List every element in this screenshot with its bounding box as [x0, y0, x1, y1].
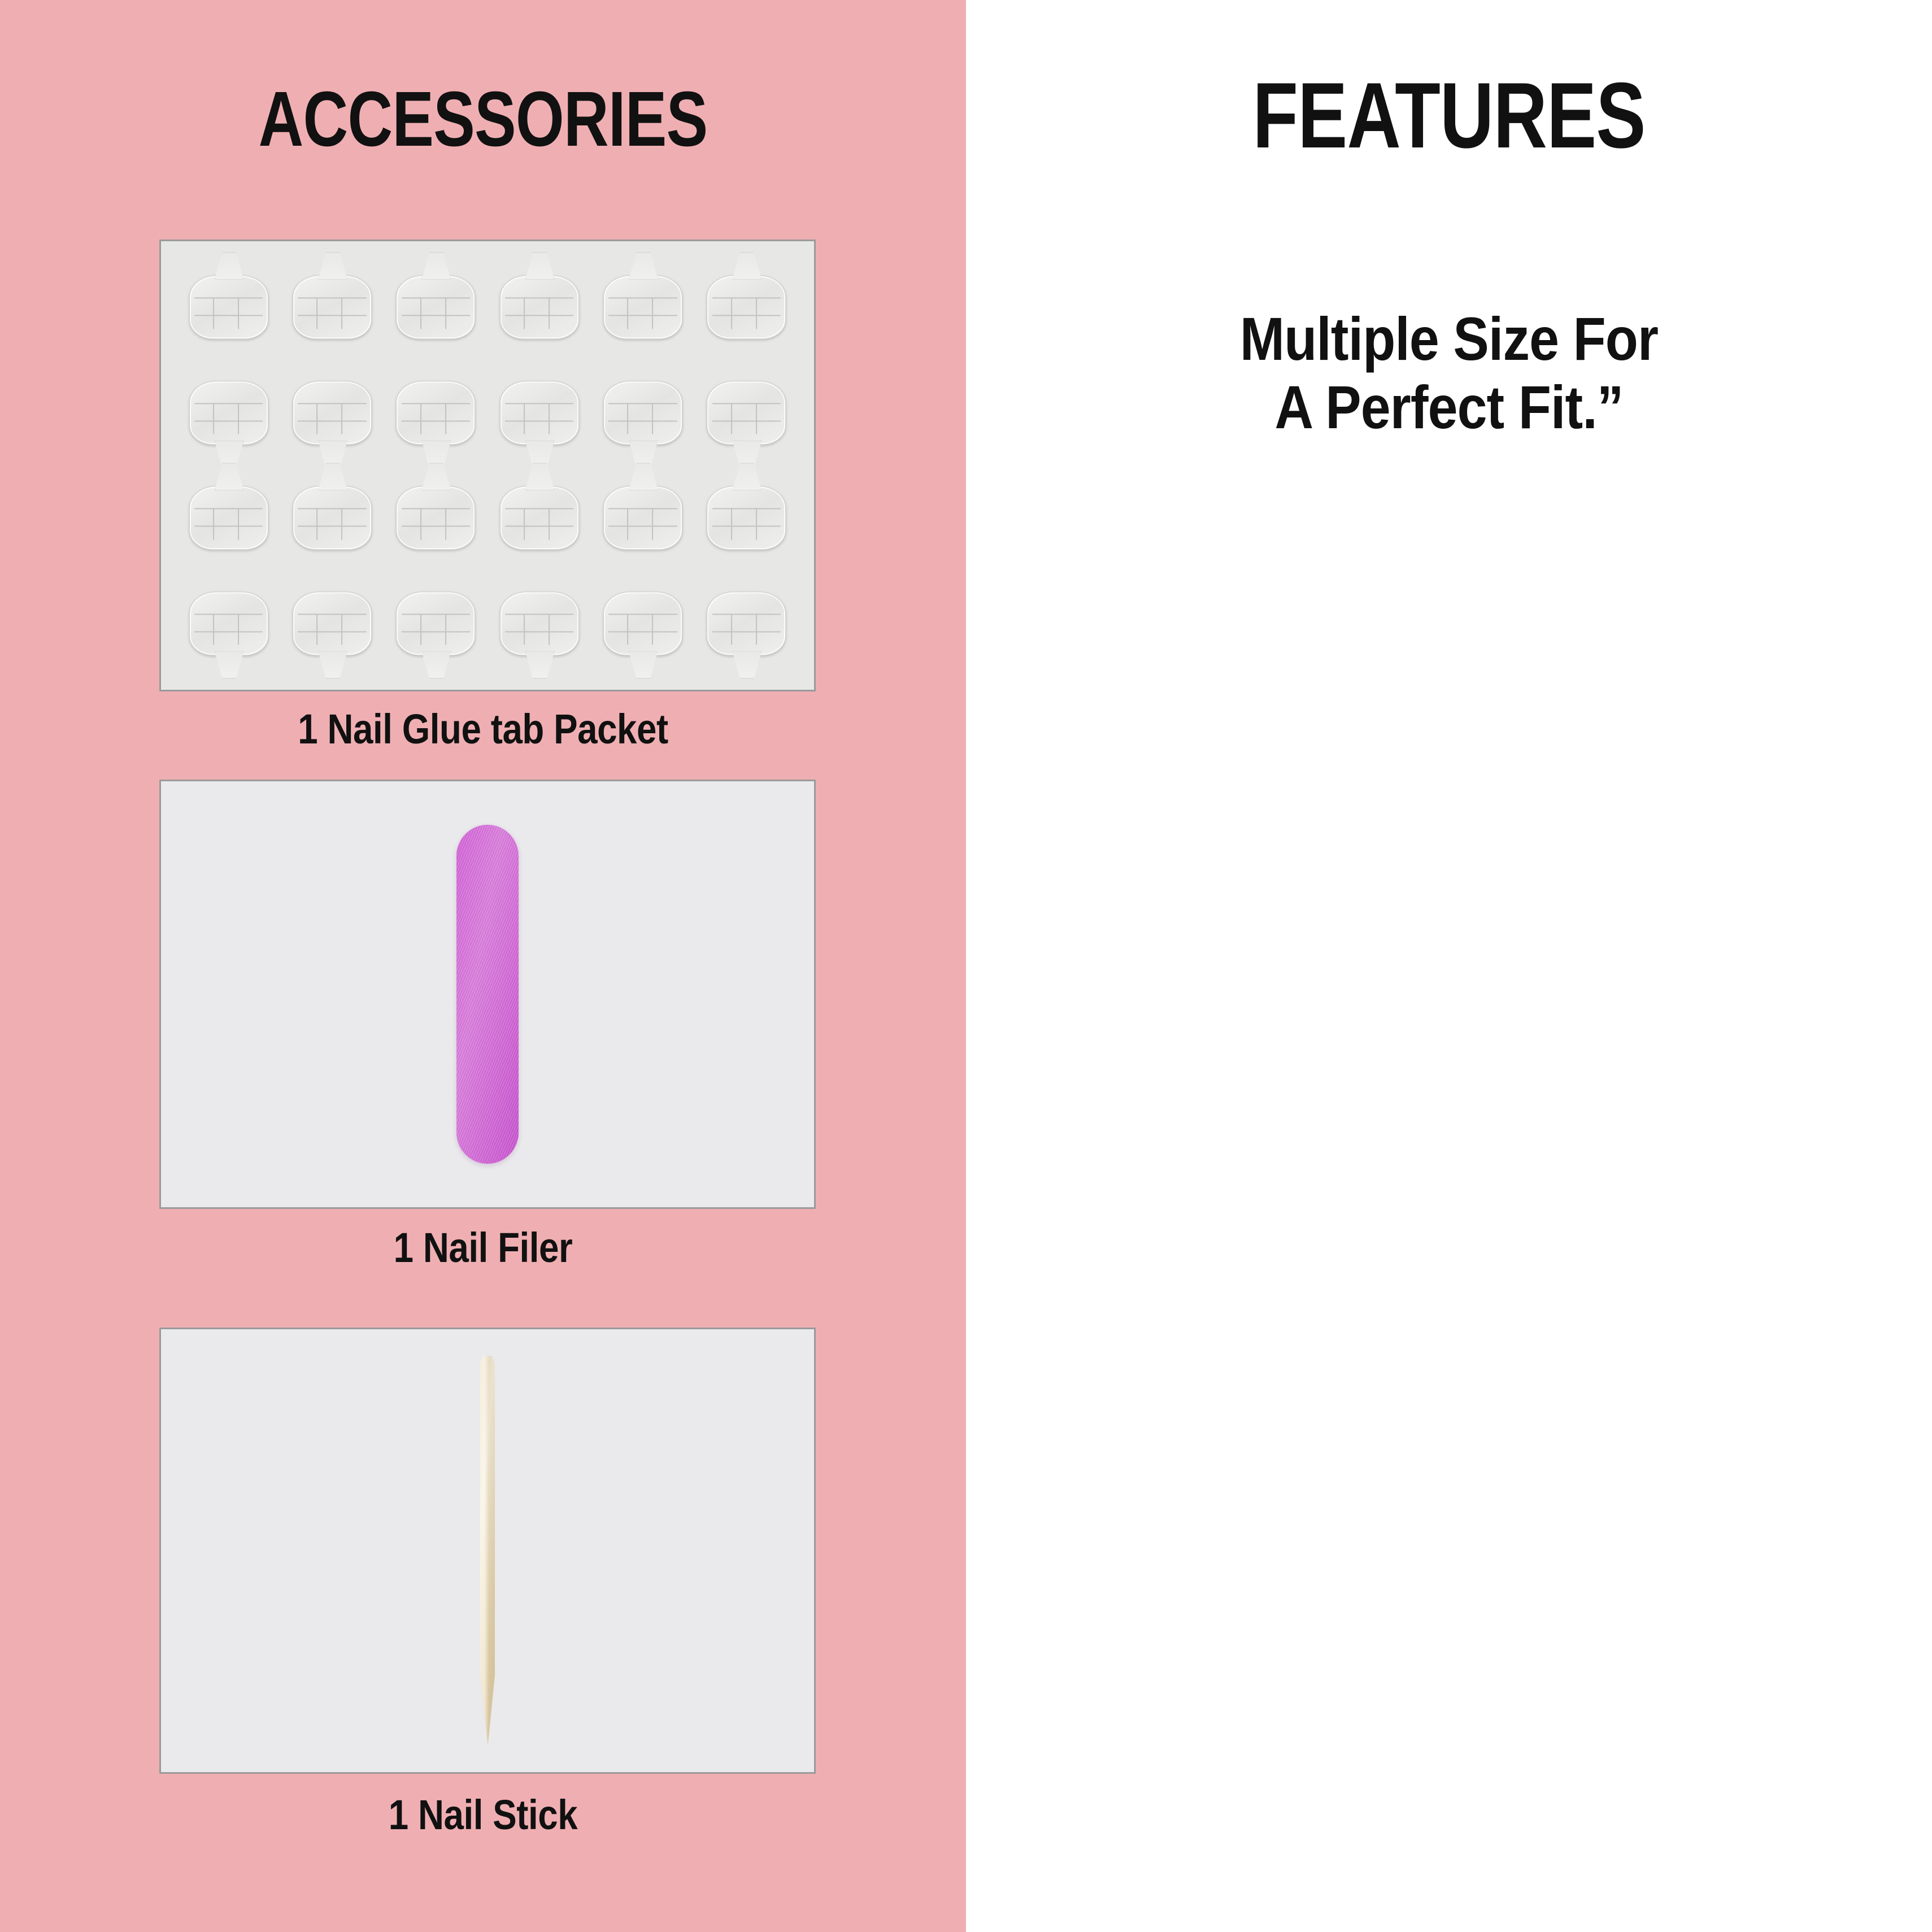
glue-tab-scoreline [402, 613, 470, 615]
glue-tab-scoreline [402, 297, 470, 298]
glue-tab-scoreline [342, 613, 343, 631]
glue-tab-scoreline [298, 613, 366, 615]
glue-tab-scoreline [524, 315, 525, 329]
glue-tab-scoreline [194, 613, 263, 615]
glue-tab-scoreline [524, 526, 525, 539]
glue-tab-scoreline [420, 403, 421, 420]
glue-tab-scoreline [712, 526, 781, 527]
glue-tab-pad [707, 276, 786, 340]
glue-tab-scoreline [402, 420, 470, 421]
features-heading: FEATURES [1063, 62, 1835, 169]
glue-tab [696, 362, 797, 465]
glue-tab-scoreline [402, 508, 470, 509]
glue-tab [178, 256, 279, 359]
glue-tab-pad [603, 381, 682, 445]
glue-tab-scoreline [549, 297, 550, 315]
accessory-caption-glue-tab-packet: 1 Nail Glue tab Packet [68, 705, 899, 753]
glue-tab-scoreline [505, 420, 573, 421]
glue-tab-scoreline [524, 631, 525, 645]
glue-tab-pad [603, 486, 682, 550]
glue-tab-scoreline [316, 631, 317, 645]
glue-tab-scoreline [213, 297, 214, 315]
glue-tab-scoreline [316, 508, 317, 525]
glue-tab-scoreline [712, 420, 781, 421]
glue-tab-scoreline [549, 631, 550, 645]
glue-tab-scoreline [316, 403, 317, 420]
glue-tab-scoreline [298, 526, 366, 527]
features-panel: FEATURES Multiple Size For A Perfect Fit… [966, 0, 1932, 1932]
glue-tab-scoreline [342, 420, 343, 434]
glue-tab-scoreline [445, 631, 446, 645]
glue-tab-pad [707, 591, 786, 655]
glue-tab-scoreline [608, 508, 677, 509]
nail-file-graphic [456, 825, 519, 1164]
glue-tab-scoreline [712, 508, 781, 509]
glue-tab-scoreline [652, 613, 654, 631]
glue-tab [592, 467, 693, 570]
glue-tab-scoreline [524, 613, 525, 631]
glue-tab-scoreline [213, 613, 214, 631]
glue-tab-scoreline [420, 420, 421, 434]
glue-tab-scoreline [627, 403, 628, 420]
glue-tab-scoreline [524, 403, 525, 420]
glue-tab-scoreline [402, 315, 470, 316]
glue-tab-scoreline [731, 508, 732, 525]
glue-tab-scoreline [238, 403, 239, 420]
accessory-caption-nail-filer: 1 Nail Filer [68, 1224, 899, 1272]
accessory-caption-nail-stick: 1 Nail Stick [68, 1791, 899, 1839]
glue-tab-scoreline [238, 631, 239, 645]
glue-tab-scoreline [298, 508, 366, 509]
features-subtitle: Multiple Size For A Perfect Fit.” [1024, 305, 1874, 442]
glue-tab-scoreline [549, 315, 550, 329]
glue-tab [281, 362, 382, 465]
glue-tab-scoreline [549, 526, 550, 539]
glue-tab-scoreline [420, 631, 421, 645]
glue-tab [281, 572, 382, 676]
subtitle-line-1: Multiple Size For [1024, 305, 1874, 373]
glue-tab [592, 362, 693, 465]
glue-tab-scoreline [756, 403, 757, 420]
glue-tab-scoreline [524, 297, 525, 315]
glue-tab-scoreline [712, 631, 781, 632]
glue-tab-scoreline [731, 403, 732, 420]
glue-tab [281, 256, 382, 359]
glue-tab [489, 256, 590, 359]
glue-tab-pad [707, 381, 786, 445]
glue-tab-pad [189, 486, 268, 550]
glue-tab-scoreline [505, 297, 573, 298]
glue-tab-scoreline [213, 403, 214, 420]
accessory-image-nail-stick [159, 1328, 816, 1774]
glue-tab-scoreline [652, 403, 654, 420]
glue-tab-scoreline [627, 526, 628, 539]
glue-tab-scoreline [608, 526, 677, 527]
glue-tab-scoreline [608, 315, 677, 316]
glue-tab-scoreline [445, 403, 446, 420]
glue-tab-scoreline [342, 508, 343, 525]
glue-tab-scoreline [194, 631, 263, 632]
glue-tab-pad [189, 591, 268, 655]
glue-tab-scoreline [342, 297, 343, 315]
glue-tab-pad [603, 591, 682, 655]
glue-tab-scoreline [316, 420, 317, 434]
glue-tab-grid [178, 256, 797, 675]
glue-tab-scoreline [213, 508, 214, 525]
glue-tab-scoreline [608, 613, 677, 615]
glue-tab-pad [189, 381, 268, 445]
glue-tab-scoreline [608, 631, 677, 632]
glue-tab-scoreline [652, 631, 654, 645]
glue-tab-scoreline [238, 526, 239, 539]
glue-tab-scoreline [420, 297, 421, 315]
accessories-panel: ACCESSORIES 1 Nail Glue tab Packet 1 Nai… [0, 0, 966, 1932]
glue-tab-scoreline [316, 297, 317, 315]
glue-tab-scoreline [627, 613, 628, 631]
glue-tab-scoreline [652, 420, 654, 434]
glue-tab-scoreline [731, 315, 732, 329]
glue-tab [178, 362, 279, 465]
glue-tab [178, 572, 279, 676]
glue-tab-pad [396, 276, 475, 340]
glue-tab-pad [396, 486, 475, 550]
glue-tab-sheet [161, 241, 814, 690]
glue-tab-scoreline [712, 613, 781, 615]
glue-tab-pad [500, 591, 579, 655]
glue-tab-scoreline [652, 315, 654, 329]
glue-tab-scoreline [445, 420, 446, 434]
glue-tab-scoreline [342, 403, 343, 420]
glue-tab-scoreline [627, 420, 628, 434]
glue-tab-scoreline [420, 526, 421, 539]
glue-tab-scoreline [756, 420, 757, 434]
glue-tab-scoreline [194, 420, 263, 421]
glue-tab-scoreline [342, 315, 343, 329]
glue-tab [281, 467, 382, 570]
glue-tab-scoreline [756, 613, 757, 631]
glue-tab-scoreline [420, 613, 421, 631]
glue-tab [489, 572, 590, 676]
glue-tab-scoreline [238, 613, 239, 631]
glue-tab-scoreline [213, 631, 214, 645]
glue-tab-pad [500, 486, 579, 550]
glue-tab-scoreline [549, 420, 550, 434]
glue-tab-pad [500, 381, 579, 445]
glue-tab-scoreline [627, 297, 628, 315]
accessory-image-nail-filer [159, 780, 816, 1209]
glue-tab-scoreline [731, 526, 732, 539]
glue-tab-scoreline [402, 403, 470, 404]
glue-tab-scoreline [194, 526, 263, 527]
glue-tab-scoreline [756, 526, 757, 539]
glue-tab-pad [293, 486, 372, 550]
glue-tab-scoreline [316, 315, 317, 329]
glue-tab [385, 256, 486, 359]
glue-tab [696, 572, 797, 676]
glue-tab-scoreline [505, 508, 573, 509]
glue-tab-scoreline [420, 315, 421, 329]
glue-tab-scoreline [238, 420, 239, 434]
glue-tab-scoreline [652, 526, 654, 539]
glue-tab-scoreline [194, 508, 263, 509]
glue-tab-scoreline [712, 403, 781, 404]
glue-tab-scoreline [524, 420, 525, 434]
glue-tab-pad [396, 381, 475, 445]
glue-tab-scoreline [342, 631, 343, 645]
glue-tab [385, 572, 486, 676]
glue-tab-pad [293, 591, 372, 655]
glue-tab-scoreline [238, 508, 239, 525]
glue-tab-scoreline [505, 613, 573, 615]
glue-tab-scoreline [194, 297, 263, 298]
glue-tab-scoreline [316, 526, 317, 539]
subtitle-line-2: A Perfect Fit.” [1024, 373, 1874, 442]
glue-tab-pad [293, 381, 372, 445]
glue-tab-scoreline [238, 315, 239, 329]
glue-tab-scoreline [712, 315, 781, 316]
glue-tab [592, 256, 693, 359]
glue-tab-scoreline [731, 420, 732, 434]
glue-tab-scoreline [445, 315, 446, 329]
glue-tab-scoreline [627, 631, 628, 645]
glue-tab-scoreline [445, 297, 446, 315]
glue-tab [489, 362, 590, 465]
glue-tab [385, 362, 486, 465]
glue-tab-scoreline [756, 631, 757, 645]
glue-tab-scoreline [756, 508, 757, 525]
glue-tab-scoreline [524, 508, 525, 525]
glue-tab-scoreline [731, 631, 732, 645]
glue-tab-scoreline [549, 508, 550, 525]
accessories-heading: ACCESSORIES [97, 75, 869, 164]
glue-tab-scoreline [608, 420, 677, 421]
glue-tab-pad [603, 276, 682, 340]
glue-tab-scoreline [420, 508, 421, 525]
glue-tab-pad [293, 276, 372, 340]
infographic-page: ACCESSORIES 1 Nail Glue tab Packet 1 Nai… [0, 0, 1932, 1932]
glue-tab-scoreline [505, 403, 573, 404]
glue-tab-scoreline [298, 403, 366, 404]
glue-tab-scoreline [627, 315, 628, 329]
glue-tab-pad [189, 276, 268, 340]
glue-tab-scoreline [298, 315, 366, 316]
glue-tab [178, 467, 279, 570]
glue-tab-scoreline [194, 403, 263, 404]
glue-tab-scoreline [731, 297, 732, 315]
glue-tab [696, 256, 797, 359]
accessory-image-glue-tab-packet [159, 240, 816, 691]
glue-tab-scoreline [213, 526, 214, 539]
glue-tab-scoreline [445, 526, 446, 539]
glue-tab-scoreline [652, 297, 654, 315]
glue-tab [385, 467, 486, 570]
glue-tab [696, 467, 797, 570]
glue-tab-scoreline [549, 403, 550, 420]
glue-tab-scoreline [627, 508, 628, 525]
glue-tab-scoreline [712, 297, 781, 298]
glue-tab-pad [500, 276, 579, 340]
glue-tab-scoreline [549, 613, 550, 631]
glue-tab-scoreline [445, 613, 446, 631]
glue-tab-scoreline [316, 613, 317, 631]
glue-tab-scoreline [608, 297, 677, 298]
glue-tab [489, 467, 590, 570]
glue-tab-scoreline [505, 631, 573, 632]
glue-tab-scoreline [608, 403, 677, 404]
glue-tab-pad [707, 486, 786, 550]
glue-tab-scoreline [731, 613, 732, 631]
glue-tab-scoreline [652, 508, 654, 525]
wooden-cuticle-stick-graphic [480, 1356, 495, 1746]
glue-tab-scoreline [213, 420, 214, 434]
glue-tab [592, 572, 693, 676]
glue-tab-scoreline [756, 297, 757, 315]
glue-tab-scoreline [756, 315, 757, 329]
glue-tab-scoreline [194, 315, 263, 316]
glue-tab-pad [396, 591, 475, 655]
glue-tab-scoreline [445, 508, 446, 525]
glue-tab-scoreline [402, 526, 470, 527]
glue-tab-scoreline [238, 297, 239, 315]
glue-tab-scoreline [298, 297, 366, 298]
glue-tab-scoreline [298, 631, 366, 632]
glue-tab-scoreline [213, 315, 214, 329]
glue-tab-scoreline [505, 526, 573, 527]
glue-tab-scoreline [342, 526, 343, 539]
glue-tab-scoreline [402, 631, 470, 632]
glue-tab-scoreline [505, 315, 573, 316]
glue-tab-scoreline [298, 420, 366, 421]
